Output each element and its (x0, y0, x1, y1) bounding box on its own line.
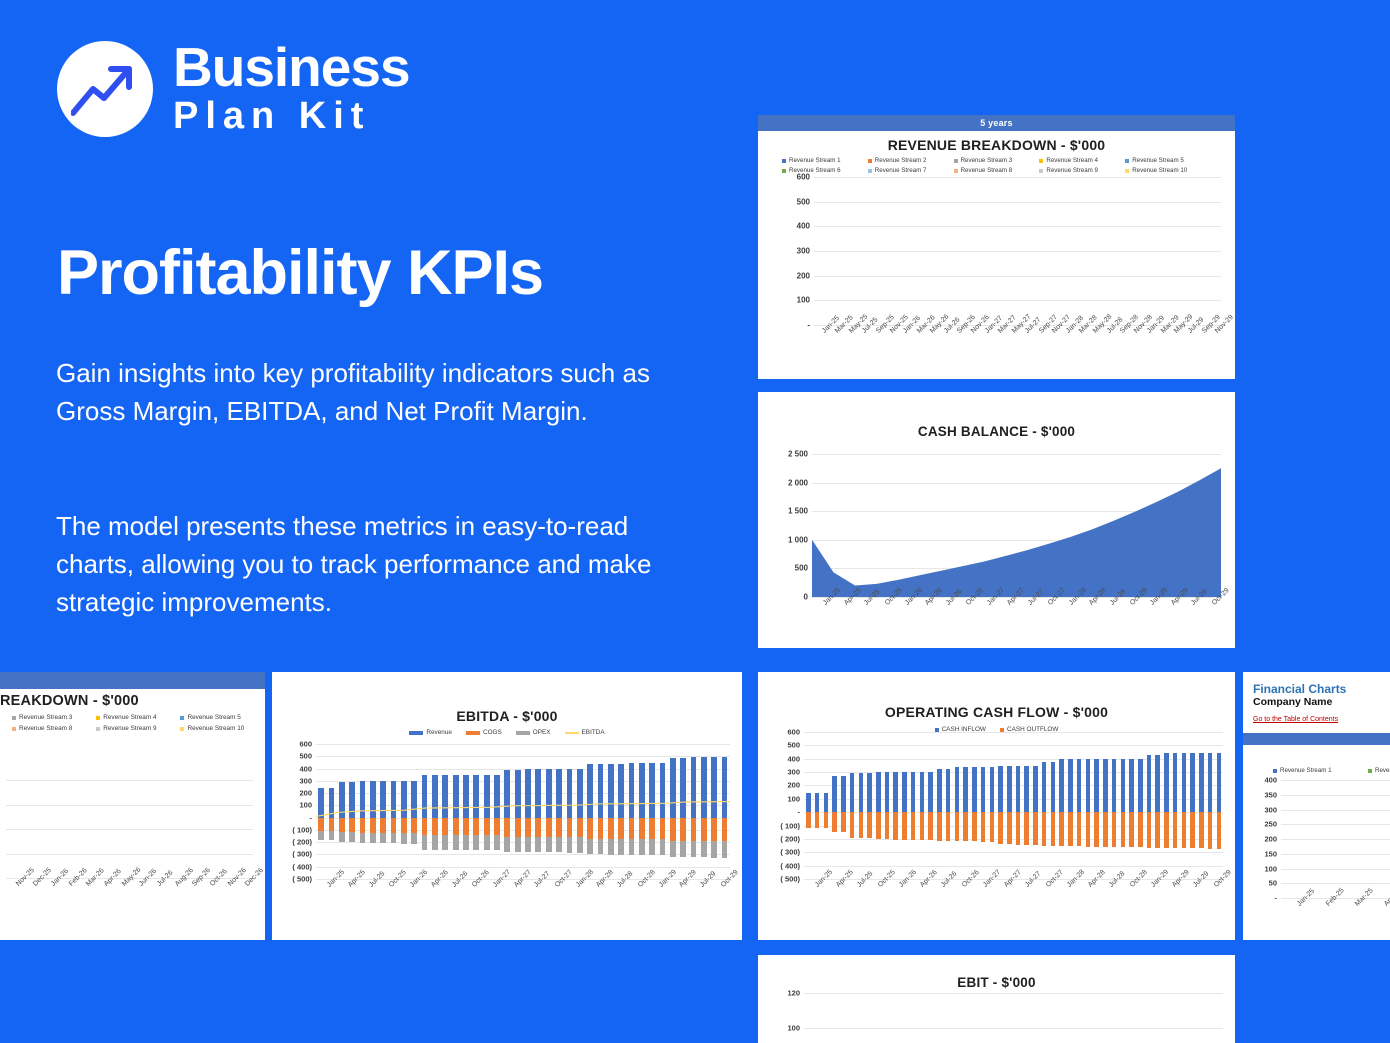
cash-outflow-bar (1068, 812, 1073, 846)
cash-outflow-bar (1024, 812, 1029, 845)
cash-outflow-bar (850, 812, 855, 837)
cash-flow-bar (1145, 732, 1154, 879)
cash-flow-bar (891, 732, 900, 879)
legend-swatch-icon (1039, 169, 1043, 173)
cash-inflow-bar (920, 772, 925, 812)
cash-inflow-bar (937, 769, 942, 813)
y-axis-tick: 300 (299, 776, 316, 785)
cash-outflow-bar (1077, 812, 1082, 846)
legend-swatch-icon (1000, 728, 1004, 732)
legend-item: Revenue Stream 4 (96, 714, 180, 721)
chart-legend: Revenue Stream 3Revenue Stream 4Revenue … (0, 714, 265, 732)
cash-inflow-bar (1103, 759, 1108, 812)
cash-outflow-bar (920, 812, 925, 840)
legend-item: Revenue Stream 2 (868, 157, 954, 164)
legend-label: Revenue (426, 729, 452, 736)
cash-flow-bar (979, 732, 988, 879)
legend-swatch-icon (12, 716, 16, 720)
y-axis-tick: 400 (299, 764, 316, 773)
y-axis-tick: 100 (1264, 864, 1281, 873)
cash-inflow-bar (1094, 759, 1099, 812)
legend-label: Revenue Stream 4 (103, 714, 156, 721)
legend-swatch-icon (1039, 159, 1043, 163)
cash-flow-bar (952, 732, 961, 879)
legend-item: Revenue Stream 4 (1039, 157, 1125, 164)
cash-outflow-bar (902, 812, 907, 839)
chart-plot-area: 600500400300200100-Jan-25Mar-25May-25Jul… (814, 177, 1221, 325)
cash-flow-bar (1084, 732, 1093, 879)
cash-outflow-bar (946, 812, 951, 841)
page-title: Profitability KPIs (57, 240, 543, 306)
cash-flow-bar (1092, 732, 1101, 879)
hero-paragraph-1: Gain insights into key profitability ind… (56, 355, 666, 431)
cash-flow-bar (1215, 732, 1224, 879)
cash-outflow-bar (1190, 812, 1195, 848)
period-band (1243, 733, 1390, 745)
y-axis-tick: ( 200) (780, 834, 804, 843)
cash-outflow-bar (1217, 812, 1222, 848)
cash-outflow-bar (841, 812, 846, 832)
legend-label: Revenue Stream 10 (1132, 167, 1187, 174)
cash-inflow-bar (1217, 753, 1222, 812)
cash-inflow-bar (1129, 759, 1134, 812)
cash-flow-bar (1014, 732, 1023, 879)
cash-flow-bar (1040, 732, 1049, 879)
legend-swatch-icon (180, 716, 184, 720)
cash-inflow-bar (1182, 753, 1187, 812)
y-axis-tick: ( 500) (780, 875, 804, 884)
legend-swatch-icon (565, 732, 579, 734)
cash-inflow-bar (1007, 766, 1012, 812)
y-axis-tick: ( 400) (780, 861, 804, 870)
legend-swatch-icon (782, 169, 786, 173)
legend-swatch-icon (782, 159, 786, 163)
cash-flow-bar (1022, 732, 1031, 879)
legend-item: Revenue Stream 5 (1125, 157, 1211, 164)
legend-item: Revenue Stream 7 (868, 167, 954, 174)
cash-inflow-bar (859, 773, 864, 813)
legend-swatch-icon (96, 727, 100, 731)
cash-inflow-bar (1077, 759, 1082, 812)
legend-item: Revenue Stream 5 (180, 714, 264, 721)
legend-item: Revenue Stream 1 (782, 157, 868, 164)
cash-outflow-bar (911, 812, 916, 840)
legend-label: Revenue Stream 5 (187, 714, 240, 721)
cash-outflow-bar (1033, 812, 1038, 845)
legend-label: Revenue Stream 5 (1132, 157, 1184, 164)
cash-inflow-bar (1051, 762, 1056, 812)
cash-flow-bar (961, 732, 970, 879)
cash-flow-bar (1031, 732, 1040, 879)
cash-outflow-bar (1051, 812, 1056, 845)
legend-label: EBITDA (582, 729, 605, 736)
cash-flow-bar (926, 732, 935, 879)
hero-paragraph-2: The model presents these metrics in easy… (56, 508, 666, 622)
legend-swatch-icon (516, 731, 530, 735)
company-name: Company Name (1253, 696, 1390, 708)
cash-outflow-bar (1182, 812, 1187, 848)
brand-name-line2: Plan Kit (173, 95, 410, 139)
y-axis-tick: 600 (787, 728, 804, 737)
cash-inflow-bar (893, 772, 898, 812)
y-axis-tick: 250 (1264, 820, 1281, 829)
legend-label: Revenue Stream 3 (961, 157, 1013, 164)
y-axis-tick: 400 (1264, 776, 1281, 785)
cash-inflow-bar (1016, 766, 1021, 812)
cash-inflow-bar (1033, 766, 1038, 812)
chart-title-revenue-breakdown: REVENUE BREAKDOWN - $'000 (758, 137, 1235, 153)
legend-label: Revenue Stream 9 (1046, 167, 1098, 174)
cash-inflow-bar (850, 773, 855, 813)
cash-inflow-bar (972, 767, 977, 812)
cash-outflow-bar (1121, 812, 1126, 847)
cash-flow-bar (839, 732, 848, 879)
cash-flow-bar (856, 732, 865, 879)
cash-inflow-bar (1190, 753, 1195, 812)
cash-flow-bar (970, 732, 979, 879)
legend-swatch-icon (868, 169, 872, 173)
y-axis-tick: ( 100) (780, 821, 804, 830)
cash-outflow-bar (876, 812, 881, 839)
y-axis-tick: ( 300) (292, 850, 316, 859)
y-axis-tick: 600 (299, 740, 316, 749)
trend-up-chart-icon (57, 41, 153, 137)
legend-swatch-icon (96, 716, 100, 720)
period-band-5-years: 5 years (758, 115, 1235, 131)
legend-swatch-icon (1125, 159, 1129, 163)
cash-flow-bar (1075, 732, 1084, 879)
cash-inflow-bar (1042, 762, 1047, 812)
cash-inflow-bar (885, 772, 890, 812)
legend-swatch-icon (1273, 769, 1277, 773)
cash-flow-bar (821, 732, 830, 879)
chart-plot-area: 600500400300200100-( 100)( 200)( 300)( 4… (804, 732, 1223, 879)
cash-flow-bar (935, 732, 944, 879)
chart-title-operating-cash-flow: OPERATING CASH FLOW - $'000 (758, 704, 1235, 720)
chart-plot-area: 12010080 (804, 993, 1223, 1043)
cash-flow-bar (1153, 732, 1162, 879)
cash-outflow-bar (1147, 812, 1152, 847)
cash-outflow-bar (1138, 812, 1143, 847)
cash-inflow-bar (902, 772, 907, 812)
cash-inflow-bar (946, 769, 951, 813)
cash-outflow-bar (972, 812, 977, 841)
y-axis-tick: 300 (1264, 805, 1281, 814)
cash-inflow-bar (1112, 759, 1117, 812)
cash-flow-bar (883, 732, 892, 879)
legend-label: Revenue Stream 8 (19, 725, 72, 732)
y-axis-tick: 200 (787, 781, 804, 790)
cash-flow-bar (1118, 732, 1127, 879)
legend-item: Revenue Stream 8 (12, 725, 96, 732)
legend-swatch-icon (1368, 769, 1372, 773)
legend-item: Revenue Stream 6 (1368, 767, 1390, 774)
legend-swatch-icon (935, 728, 939, 732)
cash-outflow-bar (1112, 812, 1117, 847)
y-axis-tick: 100 (299, 801, 316, 810)
y-axis-tick: 100 (787, 794, 804, 803)
y-axis-tick: 1 000 (788, 535, 812, 544)
legend-item: COGS (466, 729, 502, 736)
legend-label: Revenue Stream 1 (1280, 767, 1332, 774)
cash-inflow-bar (1164, 753, 1169, 812)
chart-title-ebitda: EBITDA - $'000 (272, 708, 742, 724)
cash-flow-bar (987, 732, 996, 879)
legend-label: Revenue Stream 4 (1046, 157, 1098, 164)
cash-inflow-bar (911, 772, 916, 812)
cash-outflow-bar (1164, 812, 1169, 848)
y-axis-tick: 1 500 (788, 507, 812, 516)
cash-outflow-bar (937, 812, 942, 841)
cash-flow-bar (848, 732, 857, 879)
cash-flow-bar (1188, 732, 1197, 879)
cash-flow-bar (1162, 732, 1171, 879)
cash-flow-bar (1180, 732, 1189, 879)
y-axis-tick: ( 100) (292, 825, 316, 834)
brand-logo: Business Plan Kit (57, 40, 410, 139)
cash-outflow-bar (867, 812, 872, 837)
legend-item: EBITDA (565, 729, 605, 736)
legend-label: Revenue Stream 1 (789, 157, 841, 164)
y-axis-tick: 600 (797, 173, 814, 182)
y-axis-tick: 300 (797, 247, 814, 256)
cash-balance-area (812, 454, 1221, 597)
chart-plot-area: 600500400300200100-( 100)( 200)( 300)( 4… (316, 744, 730, 879)
chart-title-cash-balance: CASH BALANCE - $'000 (758, 424, 1235, 439)
revenue-breakdown-24m-panel: 24 months REAKDOWN - $'000 Revenue Strea… (0, 672, 265, 940)
y-axis-tick: 500 (797, 197, 814, 206)
financial-charts-heading: Financial Charts (1253, 682, 1390, 696)
cash-flow-bar (1049, 732, 1058, 879)
chart-legend: Revenue Stream 1Revenue Stream 2Revenue … (758, 157, 1235, 174)
revenue-breakdown-5y-panel: 5 years REVENUE BREAKDOWN - $'000 Revenu… (758, 115, 1235, 379)
ebitda-panel: EBITDA - $'000 RevenueCOGSOPEXEBITDA 600… (272, 672, 742, 940)
legend-item: Revenue Stream 8 (954, 167, 1040, 174)
cash-outflow-bar (1103, 812, 1108, 847)
legend-item: Revenue Stream 10 (1125, 167, 1211, 174)
cash-inflow-bar (998, 766, 1003, 812)
cash-inflow-bar (841, 776, 846, 812)
cash-outflow-bar (981, 812, 986, 841)
y-axis-tick: 350 (1264, 790, 1281, 799)
cash-inflow-bar (1147, 755, 1152, 812)
cash-flow-bar (813, 732, 822, 879)
y-axis-tick: - (807, 321, 814, 330)
legend-label: Revenue Stream 9 (103, 725, 156, 732)
cash-inflow-bar (1068, 759, 1073, 812)
legend-item: OPEX (516, 729, 551, 736)
cash-outflow-bar (1199, 812, 1204, 848)
legend-item: Revenue Stream 6 (782, 167, 868, 174)
cash-flow-bar (918, 732, 927, 879)
legend-item: Revenue Stream 1 (1273, 767, 1368, 774)
legend-swatch-icon (954, 169, 958, 173)
cash-outflow-bar (1173, 812, 1178, 848)
cash-outflow-bar (815, 812, 820, 828)
table-of-contents-link[interactable]: Go to the Table of Contents (1253, 716, 1338, 723)
cash-flow-bar (1110, 732, 1119, 879)
cash-flow-bar (1171, 732, 1180, 879)
cash-inflow-bar (1155, 755, 1160, 812)
operating-cash-flow-panel: OPERATING CASH FLOW - $'000 CASH INFLOWC… (758, 672, 1235, 940)
cash-inflow-bar (824, 793, 829, 812)
cash-flow-bar (1197, 732, 1206, 879)
cash-outflow-bar (1129, 812, 1134, 847)
y-axis-tick: 300 (787, 768, 804, 777)
chart-legend: Revenue Stream 1Revenue Stream 6 (1243, 767, 1390, 774)
legend-label: Revenue Stream 6 (1375, 767, 1390, 774)
chart-plot-area: Nov-25Dec-25Jan-26Feb-26Mar-26Apr-26May-… (6, 780, 253, 878)
y-axis-tick: 100 (787, 1024, 804, 1033)
cash-inflow-bar (963, 767, 968, 812)
cash-inflow-bar (1086, 759, 1091, 812)
cash-inflow-bar (832, 776, 837, 812)
y-axis-tick: 120 (787, 989, 804, 998)
legend-swatch-icon (466, 731, 480, 735)
cash-flow-bar (1136, 732, 1145, 879)
y-axis-tick: 500 (795, 564, 812, 573)
legend-swatch-icon (954, 159, 958, 163)
cash-inflow-bar (955, 767, 960, 812)
legend-item: Revenue Stream 9 (1039, 167, 1125, 174)
legend-label: Revenue Stream 10 (187, 725, 244, 732)
cash-flow-bar (900, 732, 909, 879)
y-axis-tick: 0 (804, 593, 812, 602)
cash-flow-bar (909, 732, 918, 879)
y-axis-tick: 200 (299, 789, 316, 798)
y-axis-tick: 50 (1269, 879, 1281, 888)
legend-label: COGS (483, 729, 502, 736)
legend-item: Revenue Stream 9 (96, 725, 180, 732)
cash-flow-bar (1206, 732, 1215, 879)
legend-swatch-icon (1125, 169, 1129, 173)
y-axis-tick: 400 (797, 222, 814, 231)
cash-flow-bar (996, 732, 1005, 879)
cash-inflow-bar (1121, 759, 1126, 812)
chart-legend: RevenueCOGSOPEXEBITDA (272, 729, 742, 736)
chart-title-ebit: EBIT - $'000 (758, 975, 1235, 990)
legend-label: Revenue Stream 2 (875, 157, 927, 164)
cash-inflow-bar (806, 793, 811, 812)
cash-flow-bar (1005, 732, 1014, 879)
cash-outflow-bar (1094, 812, 1099, 846)
cash-outflow-bar (832, 812, 837, 832)
cash-balance-panel: CASH BALANCE - $'000 2 5002 0001 5001 00… (758, 392, 1235, 648)
ebit-panel: EBIT - $'000 12010080 (758, 955, 1235, 1043)
legend-swatch-icon (868, 159, 872, 163)
cash-inflow-bar (1024, 766, 1029, 812)
y-axis-tick: 400 (787, 754, 804, 763)
period-band-24-months: 24 months (0, 672, 265, 689)
cash-inflow-bar (1173, 753, 1178, 812)
cash-outflow-bar (806, 812, 811, 828)
y-axis-tick: 200 (797, 271, 814, 280)
legend-swatch-icon (409, 731, 423, 735)
cash-inflow-bar (1059, 759, 1064, 812)
hero-section: Business Plan Kit Profitability KPIs Gai… (0, 0, 740, 672)
cash-outflow-bar (885, 812, 890, 839)
brand-name-line1: Business (173, 40, 410, 95)
cash-flow-bar (830, 732, 839, 879)
legend-label: Revenue Stream 3 (19, 714, 72, 721)
y-axis-tick: 500 (299, 752, 316, 761)
cash-flow-bar (1057, 732, 1066, 879)
cash-inflow-bar (1199, 753, 1204, 812)
cash-inflow-bar (990, 767, 995, 812)
chart-plot-area: 2 5002 0001 5001 0005000Jan-25Apr-25Jul-… (812, 454, 1221, 597)
legend-item: Revenue (409, 729, 452, 736)
cash-outflow-bar (1155, 812, 1160, 847)
cash-inflow-bar (981, 767, 986, 812)
financial-charts-panel: Financial Charts Company Name Go to the … (1243, 672, 1390, 940)
cash-outflow-bar (893, 812, 898, 839)
y-axis-tick: ( 400) (292, 862, 316, 871)
legend-item: Revenue Stream 10 (180, 725, 264, 732)
cash-inflow-bar (867, 773, 872, 813)
legend-item: Revenue Stream 3 (12, 714, 96, 721)
y-axis-tick: ( 200) (292, 838, 316, 847)
cash-inflow-bar (1208, 753, 1213, 812)
y-axis-tick: 2 000 (788, 478, 812, 487)
cash-outflow-bar (1007, 812, 1012, 844)
y-axis-tick: 150 (1264, 849, 1281, 858)
cash-flow-bar (944, 732, 953, 879)
y-axis-tick: 2 500 (788, 450, 812, 459)
cash-outflow-bar (1086, 812, 1091, 846)
legend-swatch-icon (12, 727, 16, 731)
chart-plot-area: 40035030025020015010050-Jan-25Feb-25Mar-… (1281, 780, 1390, 898)
cash-outflow-bar (990, 812, 995, 841)
cash-outflow-bar (955, 812, 960, 841)
cash-outflow-bar (928, 812, 933, 840)
cash-outflow-bar (824, 812, 829, 828)
cash-inflow-bar (1138, 759, 1143, 812)
cash-inflow-bar (815, 793, 820, 812)
cash-flow-bar (804, 732, 813, 879)
y-axis-tick: 100 (797, 296, 814, 305)
cash-inflow-bar (928, 772, 933, 812)
legend-label: Revenue Stream 7 (875, 167, 927, 174)
cash-outflow-bar (1059, 812, 1064, 846)
legend-swatch-icon (180, 727, 184, 731)
y-axis-tick: ( 500) (292, 875, 316, 884)
cash-outflow-bar (963, 812, 968, 841)
cash-flow-bar (874, 732, 883, 879)
y-axis-tick: 200 (1264, 835, 1281, 844)
y-axis-tick: ( 300) (780, 848, 804, 857)
cash-flow-bar (865, 732, 874, 879)
chart-title-revenue-breakdown-cropped: REAKDOWN - $'000 (0, 693, 265, 709)
cash-flow-bar (1066, 732, 1075, 879)
legend-label: OPEX (533, 729, 551, 736)
cash-outflow-bar (998, 812, 1003, 844)
cash-outflow-bar (1016, 812, 1021, 845)
cash-inflow-bar (876, 772, 881, 812)
y-axis-tick: 500 (787, 741, 804, 750)
cash-outflow-bar (1042, 812, 1047, 845)
cash-flow-bar (1101, 732, 1110, 879)
cash-outflow-bar (1208, 812, 1213, 848)
ebitda-line (316, 744, 730, 879)
cash-outflow-bar (859, 812, 864, 837)
legend-label: Revenue Stream 8 (961, 167, 1013, 174)
cash-flow-bar (1127, 732, 1136, 879)
legend-item: Revenue Stream 3 (954, 157, 1040, 164)
